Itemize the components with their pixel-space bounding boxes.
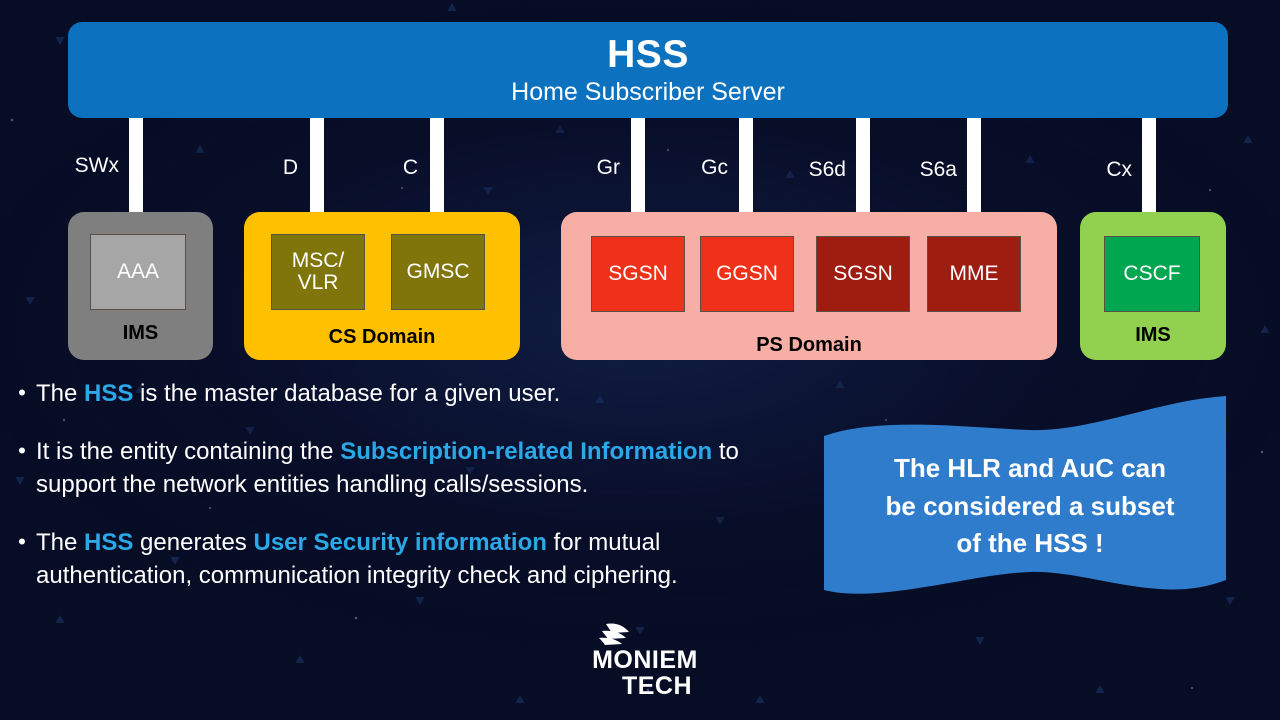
node-sgsn-2: SGSN — [816, 236, 910, 312]
interface-label-swx: SWx — [75, 154, 119, 178]
hss-header-box: HSS Home Subscriber Server — [68, 22, 1228, 118]
bullet-3-part-3: generates — [133, 529, 253, 556]
interface-label-d: D — [283, 156, 298, 180]
ribbon-line-2: be considered a subset — [846, 488, 1214, 526]
wing-icon — [599, 623, 629, 645]
bullet-1-part-3: is the master database for a given user. — [133, 380, 560, 407]
interface-label-cx: Cx — [1106, 158, 1132, 182]
bullet-text-2: It is the entity containing the Subscrip… — [36, 436, 808, 501]
ribbon-banner: The HLR and AuC can be considered a subs… — [820, 390, 1240, 630]
bullet-1-part-1: The — [36, 380, 84, 407]
node-ggsn-label: GGSN — [716, 263, 778, 285]
bullet-3-part-2: HSS — [84, 529, 133, 556]
logo-graphic: MONIEM TECH — [560, 618, 730, 702]
domain-cs: MSC/ VLR GMSC CS Domain — [244, 212, 520, 360]
moniem-tech-logo: MONIEM TECH — [560, 618, 730, 702]
node-cscf: CSCF — [1104, 236, 1200, 312]
bullet-marker: • — [8, 436, 36, 466]
domain-label-ps: PS Domain — [561, 334, 1057, 357]
bullet-3-part-4: User Security information — [253, 529, 546, 556]
interface-label-s6a: S6a — [920, 158, 957, 182]
node-ggsn: GGSN — [700, 236, 794, 312]
node-sgsn-1: SGSN — [591, 236, 685, 312]
logo-text-line-1: MONIEM — [592, 646, 698, 674]
bullet-text-3: The HSS generates User Security informat… — [36, 527, 808, 592]
node-gmsc: GMSC — [391, 234, 485, 310]
bullet-marker: • — [8, 527, 36, 557]
domain-label-ims-left: IMS — [68, 322, 213, 345]
ribbon-line-1: The HLR and AuC can — [846, 450, 1214, 488]
domain-label-ims-right: IMS — [1080, 324, 1226, 347]
node-msc-vlr-label-line2: VLR — [298, 272, 339, 294]
domain-ims-left: AAA IMS — [68, 212, 213, 360]
bullet-3-part-1: The — [36, 529, 84, 556]
ribbon-line-3: of the HSS ! — [846, 525, 1214, 563]
hss-subtitle: Home Subscriber Server — [511, 80, 785, 105]
bullet-2-part-1: It is the entity containing the — [36, 438, 340, 465]
hss-title: HSS — [607, 35, 689, 74]
node-sgsn-1-label: SGSN — [608, 263, 668, 285]
node-mme: MME — [927, 236, 1021, 312]
bullet-item-2: • It is the entity containing the Subscr… — [8, 436, 808, 501]
node-gmsc-label: GMSC — [407, 261, 470, 283]
node-aaa: AAA — [90, 234, 186, 310]
node-msc-vlr-label-line1: MSC/ — [292, 250, 345, 272]
node-cscf-label: CSCF — [1123, 263, 1180, 285]
interface-label-gr: Gr — [597, 156, 620, 180]
node-msc-vlr: MSC/ VLR — [271, 234, 365, 310]
bullet-text-1: The HSS is the master database for a giv… — [36, 378, 560, 410]
bullet-2-part-2: Subscription-related Information — [340, 438, 712, 465]
bullet-1-part-2: HSS — [84, 380, 133, 407]
node-sgsn-2-label: SGSN — [833, 263, 893, 285]
interface-label-gc: Gc — [701, 156, 728, 180]
bullet-marker: • — [8, 378, 36, 408]
domain-ims-right: CSCF IMS — [1080, 212, 1226, 360]
node-mme-label: MME — [950, 263, 999, 285]
bullet-item-3: • The HSS generates User Security inform… — [8, 527, 808, 592]
domain-label-cs: CS Domain — [244, 326, 520, 349]
node-aaa-label: AAA — [117, 261, 159, 283]
ribbon-text: The HLR and AuC can be considered a subs… — [846, 450, 1214, 563]
bullet-item-1: • The HSS is the master database for a g… — [8, 378, 808, 410]
domain-ps: SGSN GGSN SGSN MME PS Domain — [561, 212, 1057, 360]
interface-label-s6d: S6d — [809, 158, 846, 182]
bullet-list: • The HSS is the master database for a g… — [8, 378, 808, 618]
logo-text-line-2: TECH — [622, 672, 692, 700]
interface-label-c: C — [403, 156, 418, 180]
